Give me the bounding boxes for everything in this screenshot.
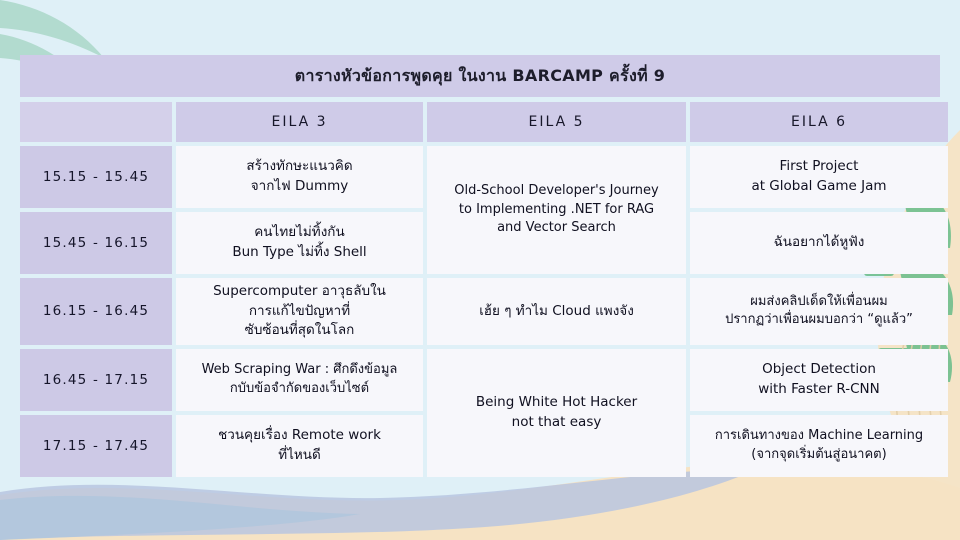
time-slot-4: 16.45 - 17.15 — [20, 349, 172, 411]
time-slot-5: 17.15 - 17.45 — [20, 415, 172, 477]
session-line: Old-School Developer's Journey — [433, 182, 680, 201]
session-line: ฉันอยากได้หูฟัง — [696, 233, 942, 253]
table-row: 15.15 - 15.45 สร้างทักษะแนวคิด จากไฟ Dum… — [20, 146, 948, 208]
session-line: คนไทยไม่ทิ้งกัน — [182, 223, 417, 243]
schedule-body: 15.15 - 15.45 สร้างทักษะแนวคิด จากไฟ Dum… — [20, 146, 948, 477]
session-eila6-5[interactable]: การเดินทางของ Machine Learning (จากจุดเร… — [690, 415, 948, 477]
session-eila3-3[interactable]: Supercomputer อาวุธลับใน การแก้ไขปัญหาที… — [176, 278, 423, 345]
session-line: First Project — [696, 157, 942, 177]
session-line: at Global Game Jam — [696, 177, 942, 197]
session-line: จากไฟ Dummy — [182, 177, 417, 197]
session-eila5-2[interactable]: เฮ้ย ๆ ทำไม Cloud แพงจัง — [427, 278, 686, 345]
table-header-row: EILA 3 EILA 5 EILA 6 — [20, 102, 948, 142]
page-title: ตารางหัวข้อการพูดคุย ในงาน BARCAMP ครั้ง… — [20, 55, 940, 97]
session-line: and Vector Search — [433, 219, 680, 238]
session-line: สร้างทักษะแนวคิด — [182, 157, 417, 177]
column-header-eila-6: EILA 6 — [690, 102, 948, 142]
time-slot-1: 15.15 - 15.45 — [20, 146, 172, 208]
session-eila6-1[interactable]: First Project at Global Game Jam — [690, 146, 948, 208]
session-line: เฮ้ย ๆ ทำไม Cloud แพงจัง — [433, 302, 680, 322]
session-line: การแก้ไขปัญหาที่ — [182, 302, 417, 322]
session-line: การเดินทางของ Machine Learning — [696, 427, 942, 446]
session-eila6-4[interactable]: Object Detection with Faster R-CNN — [690, 349, 948, 411]
session-line: ปรากฏว่าเพื่อนผมบอกว่า “ดูแล้ว” — [696, 311, 942, 330]
session-line: ชวนคุยเรื่อง Remote work — [182, 426, 417, 446]
session-eila5-1[interactable]: Old-School Developer's Journey to Implem… — [427, 146, 686, 274]
session-line: Web Scraping War : ศึกดึงข้อมูล — [182, 361, 417, 380]
session-eila3-1[interactable]: สร้างทักษะแนวคิด จากไฟ Dummy — [176, 146, 423, 208]
session-eila6-2[interactable]: ฉันอยากได้หูฟัง — [690, 212, 948, 274]
session-eila6-3[interactable]: ผมส่งคลิปเด็ดให้เพื่อนผม ปรากฏว่าเพื่อนผ… — [690, 278, 948, 345]
table-row: 16.45 - 17.15 Web Scraping War : ศึกดึงข… — [20, 349, 948, 411]
session-line: (จากจุดเริ่มต้นสู่อนาคต) — [696, 446, 942, 465]
schedule-sheet: ตารางหัวข้อการพูดคุย ในงาน BARCAMP ครั้ง… — [20, 55, 940, 481]
session-eila3-4[interactable]: Web Scraping War : ศึกดึงข้อมูล กบับข้อจ… — [176, 349, 423, 411]
time-slot-2: 15.45 - 16.15 — [20, 212, 172, 274]
session-line: ผมส่งคลิปเด็ดให้เพื่อนผม — [696, 293, 942, 312]
session-eila5-3[interactable]: Being White Hot Hacker not that easy — [427, 349, 686, 477]
session-line: with Faster R-CNN — [696, 380, 942, 400]
session-line: ที่ไหนดี — [182, 446, 417, 466]
session-eila3-2[interactable]: คนไทยไม่ทิ้งกัน Bun Type ไม่ทิ้ง Shell — [176, 212, 423, 274]
session-line: to Implementing .NET for RAG — [433, 201, 680, 220]
session-line: Bun Type ไม่ทิ้ง Shell — [182, 243, 417, 263]
session-line: ซับซ้อนที่สุดในโลก — [182, 321, 417, 341]
column-header-eila-5: EILA 5 — [427, 102, 686, 142]
session-line: Being White Hot Hacker — [433, 393, 680, 413]
column-header-time — [20, 102, 172, 142]
schedule-table: EILA 3 EILA 5 EILA 6 15.15 - 15.45 สร้าง… — [16, 98, 952, 481]
time-slot-3: 16.15 - 16.45 — [20, 278, 172, 345]
session-line: Object Detection — [696, 360, 942, 380]
session-eila3-5[interactable]: ชวนคุยเรื่อง Remote work ที่ไหนดี — [176, 415, 423, 477]
session-line: Supercomputer อาวุธลับใน — [182, 282, 417, 302]
column-header-eila-3: EILA 3 — [176, 102, 423, 142]
table-row: 16.15 - 16.45 Supercomputer อาวุธลับใน ก… — [20, 278, 948, 345]
session-line: not that easy — [433, 413, 680, 433]
session-line: กบับข้อจำกัดของเว็บไซต์ — [182, 380, 417, 399]
